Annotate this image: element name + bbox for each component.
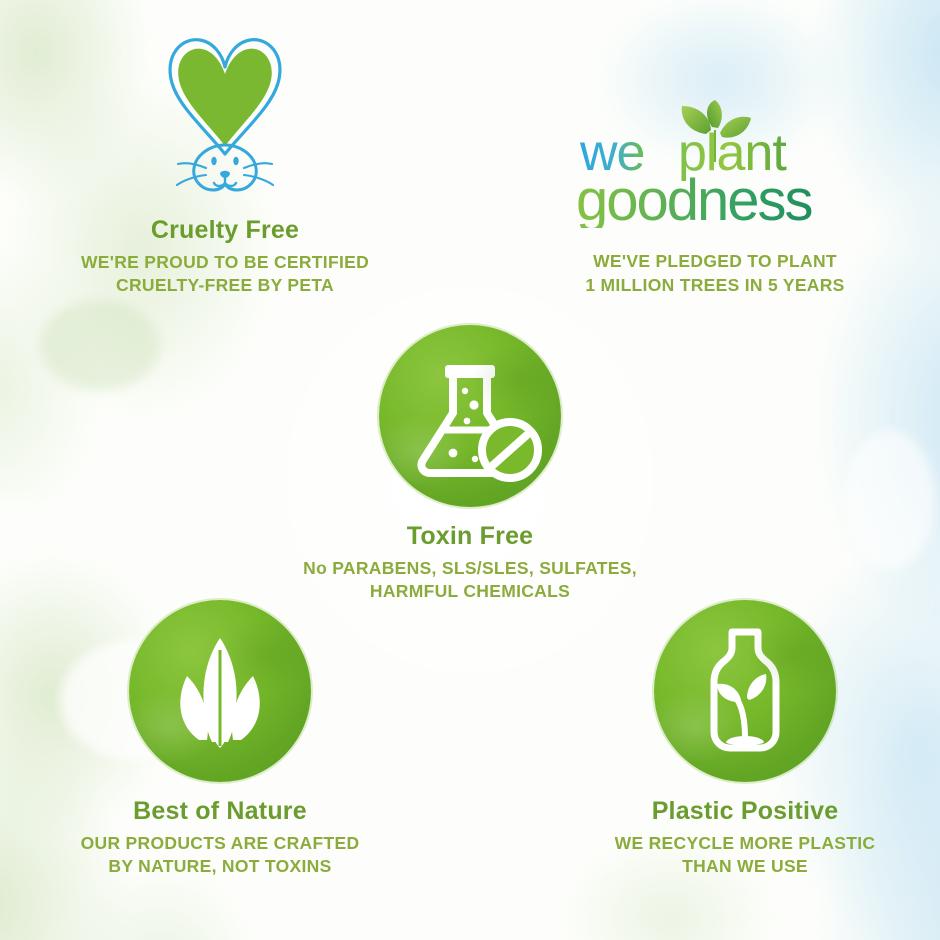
badge-desc-line-2: 1 MILLION TREES IN 5 YEARS bbox=[585, 275, 844, 295]
badge-desc-plastic-positive: WE RECYCLE MORE PLASTIC THAN WE USE bbox=[540, 832, 940, 879]
badge-desc-line-2: CRUELTY-FREE BY PETA bbox=[116, 275, 334, 295]
bunny-heart-icon bbox=[150, 28, 300, 203]
badge-title-best-of-nature: Best of Nature bbox=[15, 798, 425, 826]
badge-plastic-positive: Plastic Positive WE RECYCLE MORE PLASTIC… bbox=[540, 600, 940, 879]
badge-desc-line-1: WE'VE PLEDGED TO PLANT bbox=[593, 251, 837, 271]
badge-desc-line-1: PARABENS, SLS/SLES, SULFATES, bbox=[332, 558, 637, 578]
badge-desc-line-2: BY NATURE, NOT TOXINS bbox=[108, 856, 331, 876]
we-plant-goodness-logo: we plant goodness we plant goodness bbox=[574, 100, 856, 228]
badge-best-of-nature: Best of Nature OUR PRODUCTS ARE CRAFTED … bbox=[15, 600, 425, 879]
wash-speck-2 bbox=[845, 430, 935, 570]
badge-desc-line-1: WE'RE PROUD TO BE CERTIFIED bbox=[81, 252, 369, 272]
badge-desc-we-plant-goodness: WE'VE PLEDGED TO PLANT 1 MILLION TREES I… bbox=[510, 250, 920, 297]
wash-speck-1 bbox=[40, 300, 160, 390]
badge-desc-best-of-nature: OUR PRODUCTS ARE CRAFTED BY NATURE, NOT … bbox=[15, 832, 425, 879]
badge-title-toxin-free: Toxin Free bbox=[265, 523, 675, 551]
badge-toxin-free: Toxin Free No PARABENS, SLS/SLES, SULFAT… bbox=[265, 325, 675, 604]
badge-desc-line-2: THAN WE USE bbox=[682, 856, 808, 876]
badge-desc-line-1: OUR PRODUCTS ARE CRAFTED bbox=[81, 833, 360, 853]
badge-desc-line-1: WE RECYCLE MORE PLASTIC bbox=[615, 833, 876, 853]
svg-text:goodness: goodness bbox=[576, 168, 812, 228]
badge-cruelty-free: Cruelty Free WE'RE PROUD TO BE CERTIFIED… bbox=[20, 28, 430, 298]
badge-desc-line-2: HARMFUL CHEMICALS bbox=[370, 581, 570, 601]
badge-title-cruelty-free: Cruelty Free bbox=[20, 217, 430, 245]
badge-desc-cruelty-free: WE'RE PROUD TO BE CERTIFIED CRUELTY-FREE… bbox=[20, 251, 430, 298]
badge-title-plastic-positive: Plastic Positive bbox=[540, 798, 940, 826]
flask-no-entry-icon bbox=[379, 325, 561, 507]
three-leaves-icon bbox=[129, 600, 311, 782]
bottle-sprout-icon bbox=[654, 600, 836, 782]
badge-we-plant-goodness: we plant goodness we plant goodness WE'V… bbox=[510, 100, 920, 297]
badge-desc-prefix: No bbox=[303, 558, 332, 578]
badge-desc-toxin-free: No PARABENS, SLS/SLES, SULFATES, HARMFUL… bbox=[265, 557, 675, 604]
sustainability-badges-poster: Cruelty Free WE'RE PROUD TO BE CERTIFIED… bbox=[0, 0, 940, 940]
